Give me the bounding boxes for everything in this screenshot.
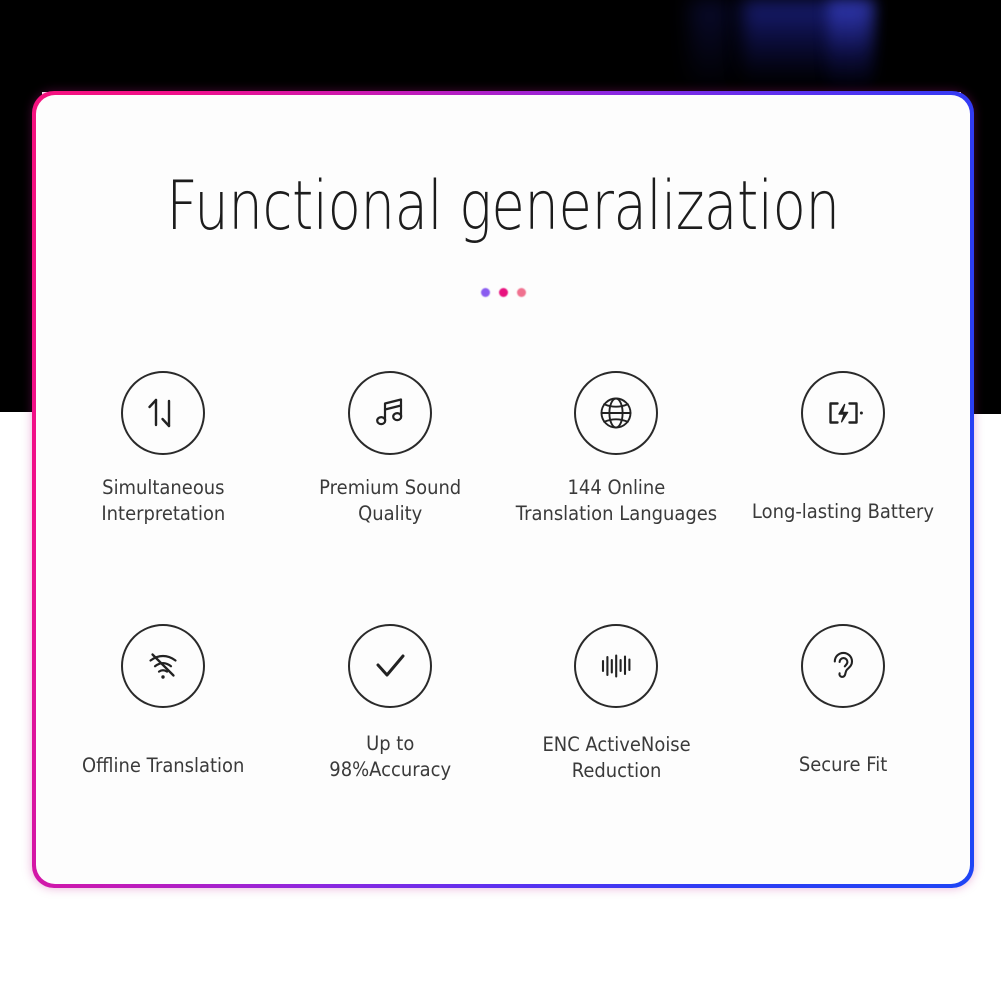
feature-grid: Simultaneous Interpretation Premium Soun… <box>50 365 956 855</box>
dot-purple <box>481 288 490 297</box>
feature-card: Functional generalization <box>36 95 970 884</box>
feature-item-online-translation-languages: 144 Online Translation Languages <box>503 365 730 610</box>
feature-label: Long-lasting Battery <box>752 499 934 525</box>
dot-separator <box>36 288 970 297</box>
dot-magenta <box>499 288 508 297</box>
globe-icon <box>574 371 658 455</box>
feature-label: Premium Sound Quality <box>319 475 461 526</box>
feature-item-secure-fit: Secure Fit <box>730 610 957 855</box>
feature-label: Offline Translation <box>82 753 244 779</box>
ear-icon <box>801 624 885 708</box>
feature-label: 144 Online Translation Languages <box>516 475 717 526</box>
feature-item-long-lasting-battery: Long-lasting Battery <box>730 365 957 610</box>
checkmark-icon <box>348 624 432 708</box>
feature-label: Secure Fit <box>799 752 887 778</box>
gradient-border-frame: Functional generalization <box>32 91 974 888</box>
feature-label: Up to 98%Accuracy <box>329 731 451 782</box>
feature-label: ENC ActiveNoise Reduction <box>542 732 690 783</box>
feature-item-enc-noise-reduction: ENC ActiveNoise Reduction <box>503 610 730 855</box>
product-feature-poster: Functional generalization <box>0 0 1001 1001</box>
background-black-top-band <box>0 0 1001 92</box>
page-title: Functional generalization <box>129 167 876 246</box>
two-way-arrows-icon <box>121 371 205 455</box>
battery-charging-icon <box>801 371 885 455</box>
feature-item-accuracy: Up to 98%Accuracy <box>277 610 504 855</box>
feature-label: Simultaneous Interpretation <box>101 475 225 526</box>
dot-pink <box>517 288 526 297</box>
feature-item-offline-translation: Offline Translation <box>50 610 277 855</box>
sound-waveform-icon <box>574 624 658 708</box>
feature-item-simultaneous-interpretation: Simultaneous Interpretation <box>50 365 277 610</box>
wifi-off-icon <box>121 624 205 708</box>
feature-item-premium-sound-quality: Premium Sound Quality <box>277 365 504 610</box>
music-note-icon <box>348 371 432 455</box>
